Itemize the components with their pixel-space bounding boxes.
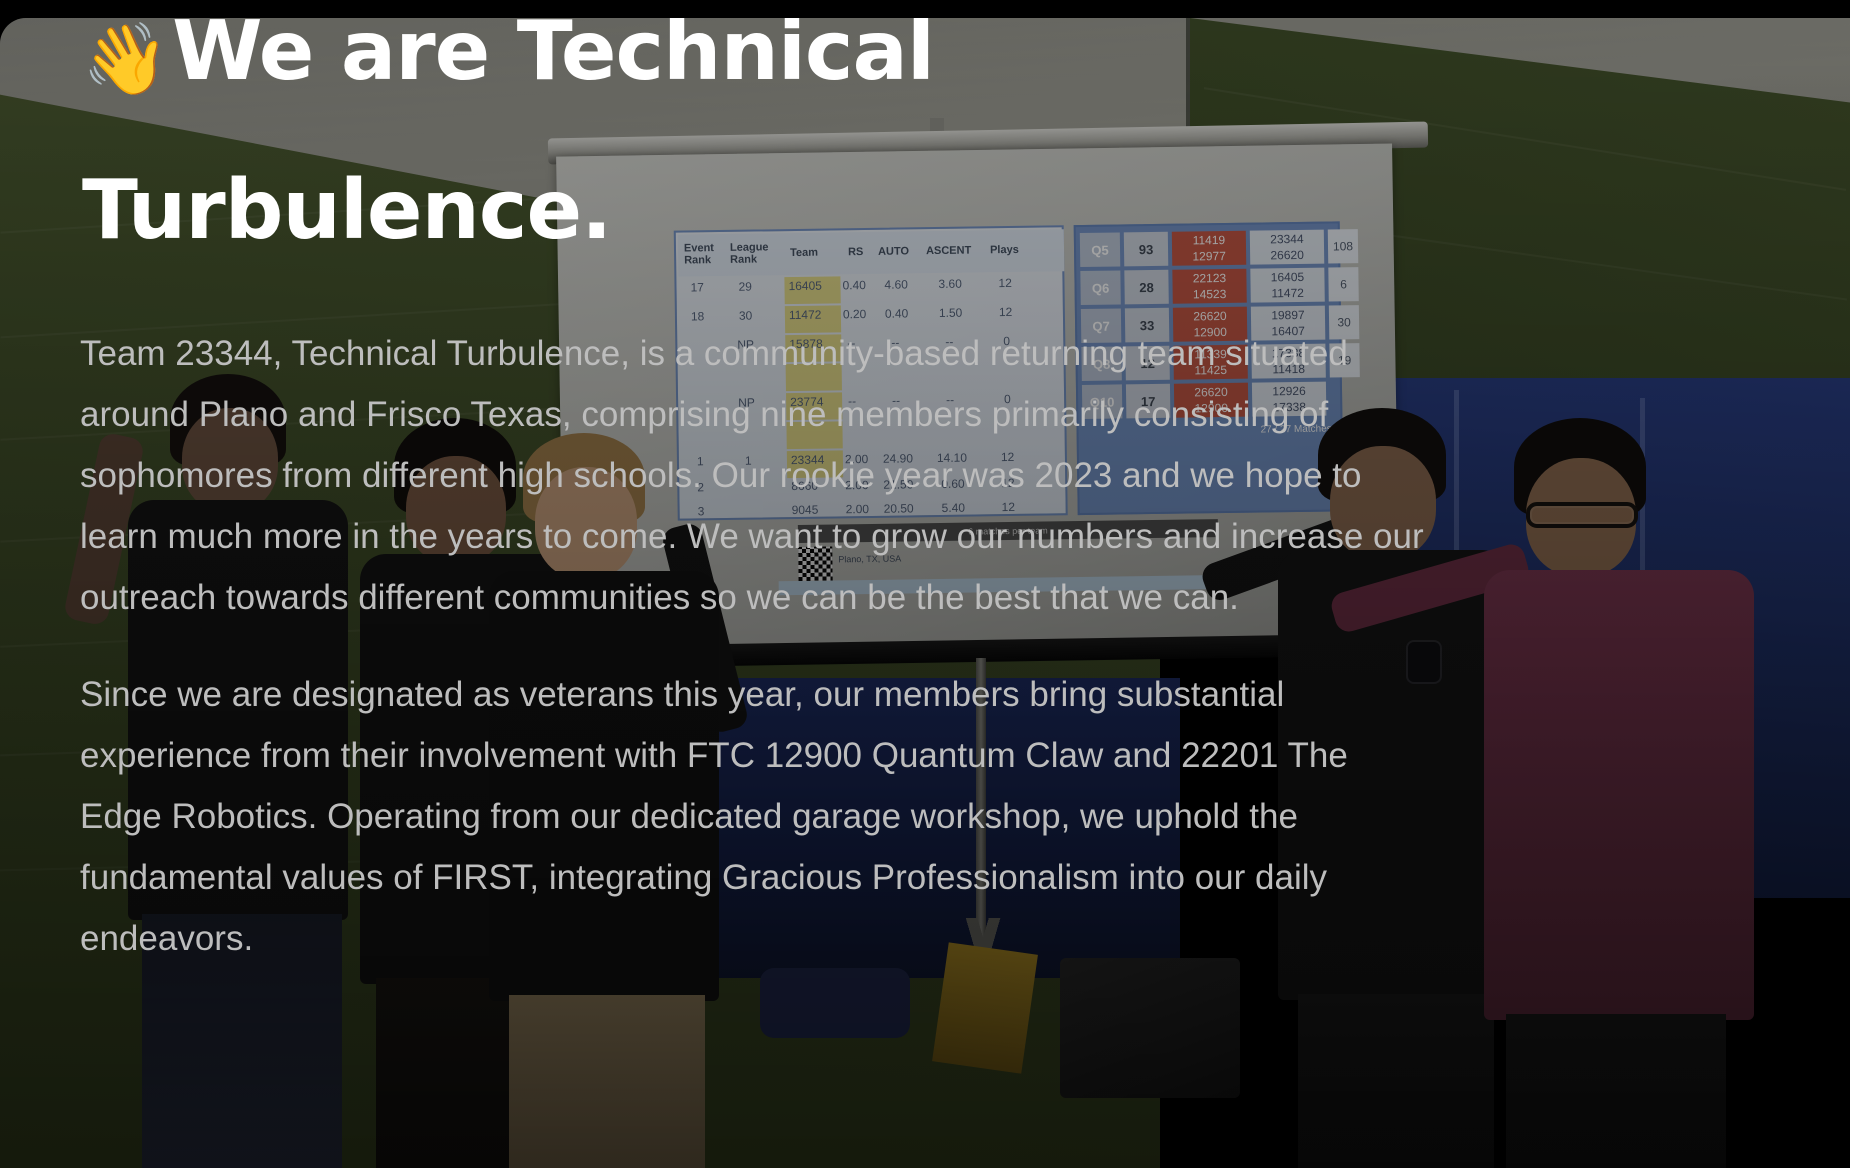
waving-hand-icon: 👋 (82, 18, 168, 100)
hero-content: 👋We are Technical Turbulence. Team 23344… (0, 18, 1850, 1168)
window-frame: EventRank LeagueRank Team RS AUTO ASCENT… (0, 0, 1850, 1168)
veterans-paragraph: Since we are designated as veterans this… (80, 664, 1425, 969)
hero-section: EventRank LeagueRank Team RS AUTO ASCENT… (0, 18, 1850, 1168)
page-title-text: We are Technical Turbulence. (82, 18, 934, 258)
intro-paragraph: Team 23344, Technical Turbulence, is a c… (80, 323, 1425, 628)
page-title: 👋We are Technical Turbulence. (82, 18, 1212, 287)
